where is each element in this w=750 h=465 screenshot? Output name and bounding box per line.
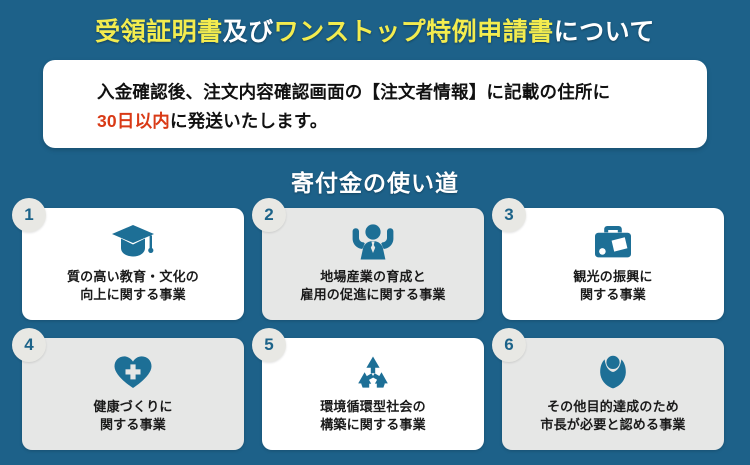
suitcase-icon [591,222,635,262]
usage-card-3-line-1: 観光の振興に [573,268,652,286]
usage-card-2[interactable]: 2 地場産業の育成と 雇用の促進に関する事業 [262,208,484,320]
usage-card-4[interactable]: 4 健康づくりに 関する事業 [22,338,244,450]
card-number-badge-6: 6 [492,328,526,362]
notice-line-1: 入金確認後、注文内容確認画面の【注文者情報】に記載の住所に [97,78,707,107]
card-number-badge-2: 2 [252,198,286,232]
notice-line-2: 30日以内に発送いたします。 [97,107,707,136]
usage-card-1-caption: 質の高い教育・文化の 向上に関する事業 [67,268,199,304]
graduation-cap-icon [111,222,155,262]
notice-card: 入金確認後、注文内容確認画面の【注文者情報】に記載の住所に 30日以内に発送いた… [43,60,707,148]
usage-card-2-caption: 地場産業の育成と 雇用の促進に関する事業 [300,268,445,304]
page-title: 受領証明書及びワンストップ特例申請書について [95,12,655,48]
usage-card-2-line-1: 地場産業の育成と [300,268,445,286]
usage-card-5-caption: 環境循環型社会の 構築に関する事業 [320,398,426,434]
usage-card-5[interactable]: 5 環境循環型社会の 構築に関する事業 [262,338,484,450]
usage-card-1-line-2: 向上に関する事業 [67,286,199,304]
title-segment-1: 受領証明書 [95,18,223,46]
usage-card-4-caption: 健康づくりに 関する事業 [93,398,172,434]
card-number-badge-5: 5 [252,328,286,362]
usage-card-6-line-1: その他目的達成のため [540,398,685,416]
title-segment-4: について [554,18,655,46]
usage-card-3-line-2: 関する事業 [573,286,652,304]
card-number-badge-3: 3 [492,198,526,232]
usage-card-6[interactable]: 6 その他目的達成のため 市長が必要と認める事業 [502,338,724,450]
notice-emphasis: 30日以内 [97,111,170,131]
usage-card-2-line-2: 雇用の促進に関する事業 [300,286,445,304]
usage-card-3-caption: 観光の振興に 関する事業 [573,268,652,304]
person-raised-arms-icon [350,222,396,262]
recycle-icon [352,352,394,392]
card-number-badge-1: 1 [12,198,46,232]
title-segment-3: ワンストップ特例申請書 [274,18,554,46]
notice-line-2-rest: に発送いたします。 [170,111,328,131]
usage-card-5-line-1: 環境循環型社会の [320,398,426,416]
infographic-canvas: 受領証明書及びワンストップ特例申請書について 入金確認後、注文内容確認画面の【注… [0,0,750,465]
usage-card-grid: 1 質の高い教育・文化の 向上に関する事業 2 [22,208,728,450]
usage-card-3[interactable]: 3 観光の振興に 関する事業 [502,208,724,320]
usage-card-5-line-2: 構築に関する事業 [320,416,426,434]
usage-card-6-caption: その他目的達成のため 市長が必要と認める事業 [540,398,685,434]
usage-card-6-line-2: 市長が必要と認める事業 [540,416,685,434]
usage-card-4-line-1: 健康づくりに [93,398,172,416]
person-open-arms-icon [593,352,633,392]
usage-card-4-line-2: 関する事業 [93,416,172,434]
title-segment-2: 及び [223,18,274,46]
usage-card-1[interactable]: 1 質の高い教育・文化の 向上に関する事業 [22,208,244,320]
usage-card-1-line-1: 質の高い教育・文化の [67,268,199,286]
heart-plus-icon [112,352,154,392]
page-header: 受領証明書及びワンストップ特例申請書について [0,8,750,52]
section-heading: 寄付金の使い道 [0,164,750,198]
card-number-badge-4: 4 [12,328,46,362]
